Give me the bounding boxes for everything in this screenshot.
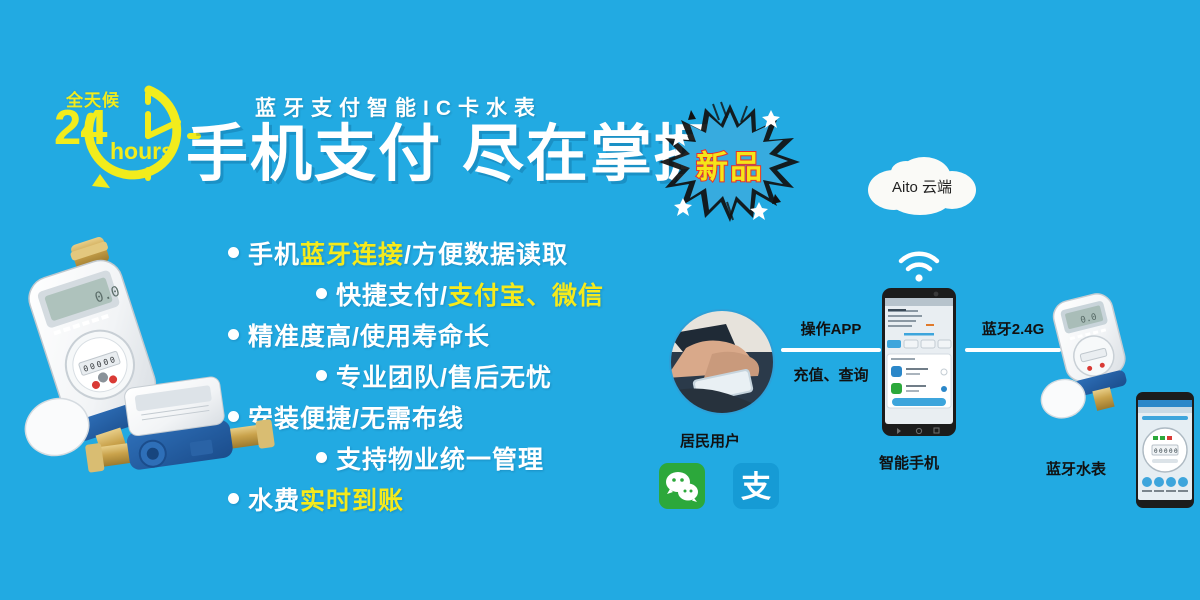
wechat-pay-icon: [659, 463, 705, 509]
svg-text:支: 支: [741, 471, 771, 504]
flow-label-recharge: 充值、查询: [778, 364, 884, 385]
feature-item-label: 精准度高/使用寿命长: [248, 317, 490, 353]
connector-line-left: [781, 348, 881, 352]
feature-item-5: 安装便捷/无需布线: [228, 396, 698, 437]
subtitle: 蓝牙支付智能IC卡水表: [255, 92, 542, 122]
svg-text:0: 0: [1159, 448, 1163, 455]
feature-item-label: 专业团队/售后无忧: [336, 358, 552, 394]
feature-item-1: 手机蓝牙连接/方便数据读取: [228, 232, 698, 273]
badge-hours-text: hours: [110, 140, 174, 163]
feature-segment-3: /方便数据读取: [404, 241, 568, 269]
feature-segment-1: 快捷支付/: [336, 282, 448, 310]
feature-segment-1: 精准度高/使用寿命长: [248, 323, 490, 351]
cloud-label: Aito 云端: [862, 176, 982, 197]
node-label-phone: 智能手机: [879, 452, 939, 473]
badge-number: 24: [54, 104, 107, 153]
feature-item-4: 专业团队/售后无忧: [228, 355, 698, 396]
page-title: 手机支付尽在掌握: [186, 122, 718, 187]
svg-text:0: 0: [1169, 448, 1173, 455]
node-label-meter: 蓝牙水表: [1046, 458, 1106, 479]
banner-canvas: 全天候 24 hours 蓝牙支付智能IC卡水表 手机支付尽在掌握: [0, 0, 1200, 600]
svg-text:0: 0: [1154, 448, 1158, 455]
feature-list: 手机蓝牙连接/方便数据读取快捷支付/支付宝、微信精准度高/使用寿命长专业团队/售…: [228, 232, 698, 519]
bullet-dot-icon: [316, 288, 327, 299]
svg-text:0: 0: [1164, 448, 1168, 455]
feature-item-label: 快捷支付/支付宝、微信: [336, 276, 604, 312]
new-product-label: 新品: [655, 142, 805, 188]
feature-item-3: 精准度高/使用寿命长: [228, 314, 698, 355]
bullet-dot-icon: [316, 452, 327, 463]
smartphone-mockup: [882, 288, 956, 436]
user-photo: [668, 308, 776, 416]
feature-segment-2: 实时到账: [300, 487, 404, 515]
feature-segment-1: 安装便捷/无需布线: [248, 405, 464, 433]
svg-text:0: 0: [1174, 448, 1178, 455]
title-part-1: 手机支付: [186, 120, 442, 189]
new-product-badge: 新品: [655, 98, 805, 226]
product-image-horizontal-meter: [78, 352, 278, 512]
wifi-icon: [896, 248, 942, 284]
feature-item-label: 手机蓝牙连接/方便数据读取: [248, 235, 568, 271]
feature-segment-2: 蓝牙连接: [300, 241, 404, 269]
node-label-user: 居民用户: [680, 430, 740, 451]
alipay-icon: 支: [733, 463, 779, 509]
feature-segment-1: 支持物业统一管理: [336, 446, 544, 474]
bullet-dot-icon: [228, 247, 239, 258]
flow-label-app: 操作APP: [786, 318, 876, 339]
feature-segment-2: 支付宝、微信: [448, 282, 604, 310]
feature-item-label: 安装便捷/无需布线: [248, 399, 464, 435]
meter-app-phone: 000 00: [1136, 392, 1194, 508]
feature-item-6: 支持物业统一管理: [228, 437, 698, 478]
feature-item-label: 支持物业统一管理: [336, 440, 544, 476]
feature-item-2: 快捷支付/支付宝、微信: [228, 273, 698, 314]
bullet-dot-icon: [316, 370, 327, 381]
feature-segment-1: 手机: [248, 241, 300, 269]
bullet-dot-icon: [228, 329, 239, 340]
cloud-node: Aito 云端: [862, 156, 982, 218]
feature-segment-1: 专业团队/售后无忧: [336, 364, 552, 392]
feature-item-7: 水费实时到账: [228, 478, 698, 519]
